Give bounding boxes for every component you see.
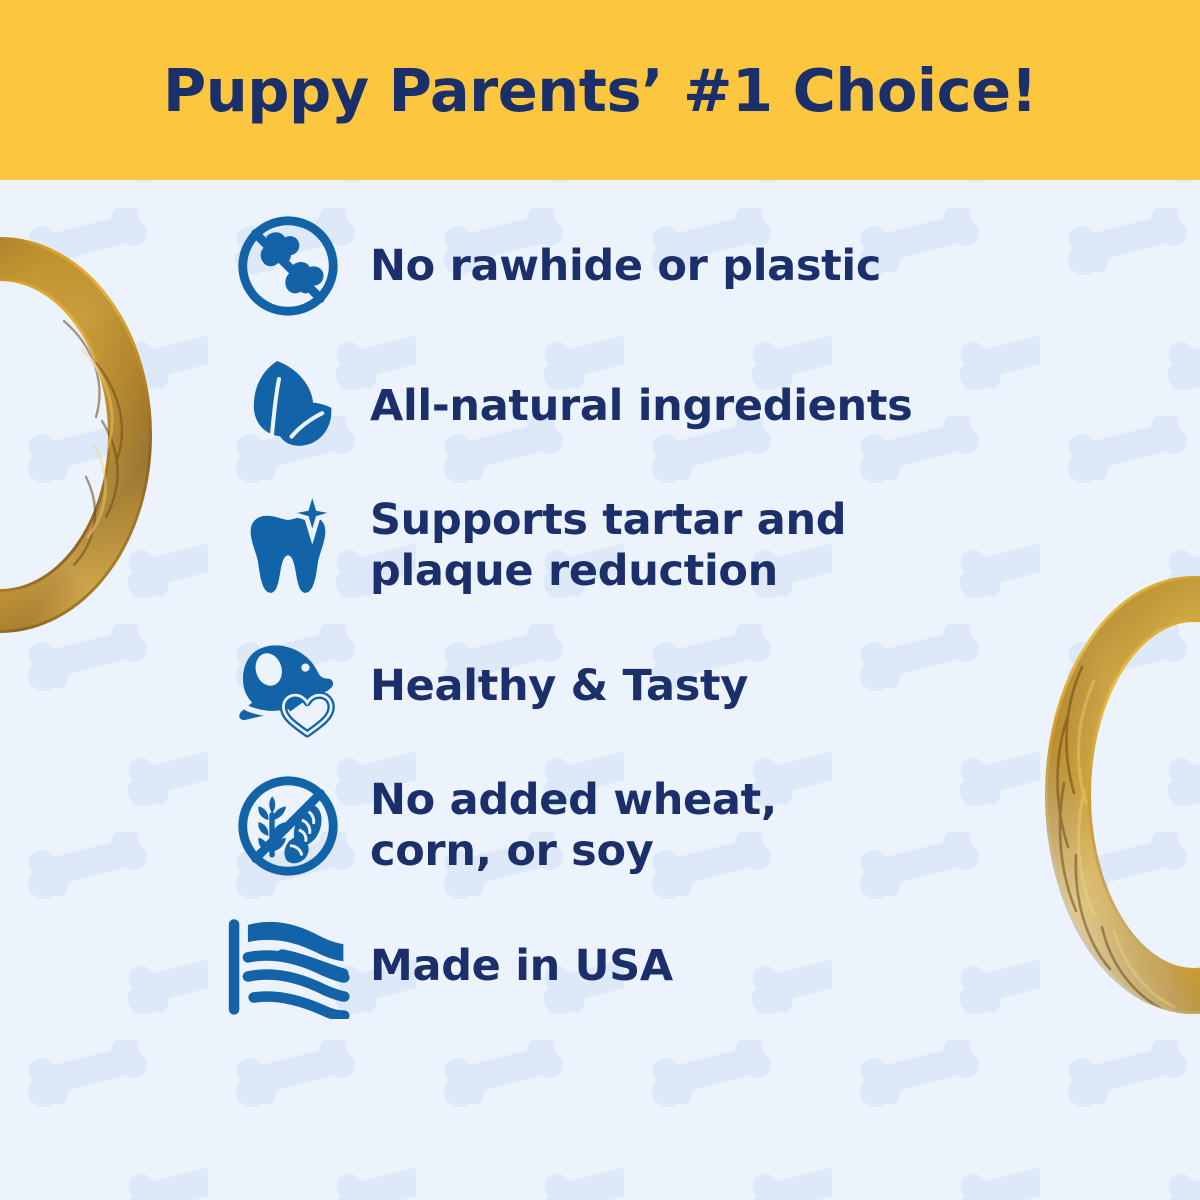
feature-label: Supports tartar and plaque reduction xyxy=(370,495,846,596)
feature-label: Healthy & Tasty xyxy=(370,661,748,712)
feature-row-made-in-usa: Made in USA xyxy=(218,896,1018,1036)
feature-row-no-rawhide: No rawhide or plastic xyxy=(218,196,1018,336)
no-rawhide-icon xyxy=(218,207,358,325)
feature-row-tartar-plaque: Supports tartar and plaque reduction xyxy=(218,476,1018,616)
no-wheat-corn-icon xyxy=(218,767,358,885)
leaves-icon xyxy=(218,352,358,460)
dog-heart-icon xyxy=(218,634,358,738)
feature-label: No added wheat, corn, or soy xyxy=(370,775,777,876)
feature-label: All-natural ingredients xyxy=(370,381,912,432)
feature-list: No rawhide or plastic All-natural ingred… xyxy=(218,196,1018,1036)
feature-label: Made in USA xyxy=(370,941,673,992)
feature-label: No rawhide or plastic xyxy=(370,241,881,292)
tooth-sparkle-icon xyxy=(218,488,358,604)
feature-row-healthy-tasty: Healthy & Tasty xyxy=(218,616,1018,756)
usa-flag-icon xyxy=(218,913,358,1019)
product-photo-chew-ring-left xyxy=(0,225,180,645)
header-banner: Puppy Parents’ #1 Choice! xyxy=(0,0,1200,180)
feature-row-no-wheat-corn-soy: No added wheat, corn, or soy xyxy=(218,756,1018,896)
feature-row-all-natural: All-natural ingredients xyxy=(218,336,1018,476)
product-photo-chew-ring-right xyxy=(1018,555,1200,1035)
page-title: Puppy Parents’ #1 Choice! xyxy=(163,56,1037,125)
